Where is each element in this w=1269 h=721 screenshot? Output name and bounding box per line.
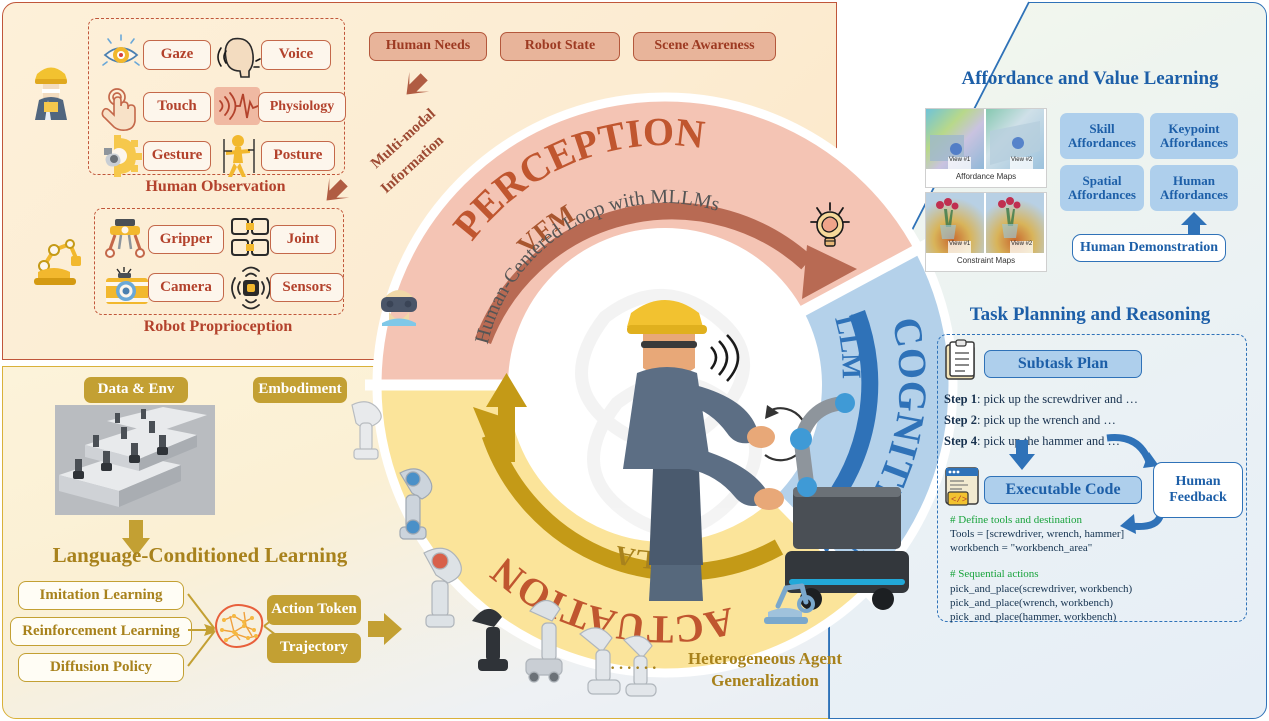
chip-camera[interactable]: Camera	[148, 273, 224, 302]
box-skill-affordances[interactable]: Skill Affordances	[1060, 113, 1144, 159]
method-imitation-learning[interactable]: Imitation Learning	[18, 581, 184, 610]
simulation-farm-image	[55, 405, 215, 515]
box-keypoint-affordances[interactable]: Keypoint Affordances	[1150, 113, 1238, 159]
chip-touch[interactable]: Touch	[143, 92, 211, 122]
constraint-maps-thumbnail: View #1 View #2 Constraint Maps	[925, 192, 1047, 272]
code-line-6: pick_and_place(wrench, workbench)	[950, 597, 1113, 609]
affordance-maps-thumbnail: View #1 View #2 Affordance Maps	[925, 108, 1047, 188]
sensor-icon	[228, 264, 274, 310]
chip-joint[interactable]: Joint	[270, 225, 336, 254]
body-posture-icon	[218, 133, 262, 179]
code-line-7: pick_and_place(hammer, workbench)	[950, 611, 1116, 623]
affordance-maps-caption: Affordance Maps	[926, 172, 1046, 181]
chip-gripper[interactable]: Gripper	[148, 225, 224, 254]
neural-brain-icon	[210, 600, 268, 652]
plan-to-code-arrow-icon	[1007, 440, 1037, 470]
human-feedback-line2: Feedback	[1169, 490, 1227, 506]
diagram-canvas: PERCEPTION VFM COGNITION LLM ACTUATION V…	[0, 0, 1269, 721]
step-2: Step 2: pick up the wrench and …	[944, 413, 1116, 428]
clipboard-icon	[944, 340, 978, 382]
step-2-num: Step 2	[944, 413, 977, 427]
method-reinforcement-learning[interactable]: Reinforcement Learning	[10, 617, 192, 646]
waveform-icon	[214, 85, 260, 127]
code-line-2: workbench = "workbench_area"	[950, 542, 1092, 554]
code-window-icon: </>	[944, 466, 980, 508]
head-speaking-icon	[216, 33, 262, 75]
eye-icon	[100, 33, 142, 75]
step-2-text: : pick up the wrench and …	[977, 413, 1116, 427]
task-planning-title: Task Planning and Reasoning	[930, 304, 1250, 326]
robot-arm-icon	[32, 228, 88, 290]
step-4-num: Step 4	[944, 434, 977, 448]
code-line-5: pick_and_place(screwdriver, workbench)	[950, 583, 1132, 595]
label-executable-code[interactable]: Executable Code	[984, 476, 1142, 504]
button-human-demonstration[interactable]: Human Demonstration	[1072, 234, 1226, 262]
label-data-env[interactable]: Data & Env	[84, 377, 188, 403]
box-human-affordances[interactable]: Human Affordances	[1150, 165, 1238, 211]
step-1: Step 1: pick up the screwdriver and …	[944, 392, 1138, 407]
worker-avatar-icon	[26, 58, 76, 120]
affordance-title: Affordance and Value Learning	[930, 68, 1250, 90]
vr-headset-icon	[378, 280, 420, 326]
badge-human-needs[interactable]: Human Needs	[369, 32, 487, 61]
embodiment-robots-illustration	[300, 395, 560, 695]
chip-sensors[interactable]: Sensors	[270, 273, 344, 302]
code-line-1: Tools = [screwdriver, wrench, hammer]	[950, 528, 1124, 540]
camera-icon	[104, 266, 150, 308]
joint-icon	[228, 218, 272, 260]
step-1-text: : pick up the screwdriver and …	[977, 392, 1138, 406]
svg-text:</>: </>	[951, 495, 967, 505]
human-observation-title: Human Observation	[88, 178, 343, 196]
chip-gesture[interactable]: Gesture	[143, 141, 211, 171]
badge-scene-awareness[interactable]: Scene Awareness	[633, 32, 776, 61]
label-subtask-plan[interactable]: Subtask Plan	[984, 350, 1142, 378]
code-line-4: # Sequential actions	[950, 568, 1039, 580]
code-line-0: # Define tools and destination	[950, 514, 1082, 526]
chip-gaze[interactable]: Gaze	[143, 40, 211, 70]
gripper-icon	[104, 218, 148, 260]
hand-touch-icon	[100, 85, 142, 127]
heterogeneous-line1: Heterogeneous Agent	[665, 648, 865, 670]
step-1-num: Step 1	[944, 392, 977, 406]
constraint-maps-caption: Constraint Maps	[926, 256, 1046, 265]
heterogeneous-line2: Generalization	[665, 671, 865, 691]
human-feedback-line1: Human	[1175, 474, 1220, 490]
small-robot-arm-icon	[760, 570, 824, 628]
badge-robot-state[interactable]: Robot State	[500, 32, 620, 61]
method-diffusion-policy[interactable]: Diffusion Policy	[18, 653, 184, 682]
gesture-gear-icon	[100, 134, 144, 178]
ellipsis-more-agents: ······	[610, 660, 660, 678]
robot-proprioception-title: Robot Proprioception	[94, 318, 342, 336]
lightbulb-brain-icon	[808, 200, 852, 252]
box-spatial-affordances[interactable]: Spatial Affordances	[1060, 165, 1144, 211]
box-human-feedback[interactable]: Human Feedback	[1153, 462, 1243, 518]
step-4-text: : pick up the hammer and …	[977, 434, 1120, 448]
